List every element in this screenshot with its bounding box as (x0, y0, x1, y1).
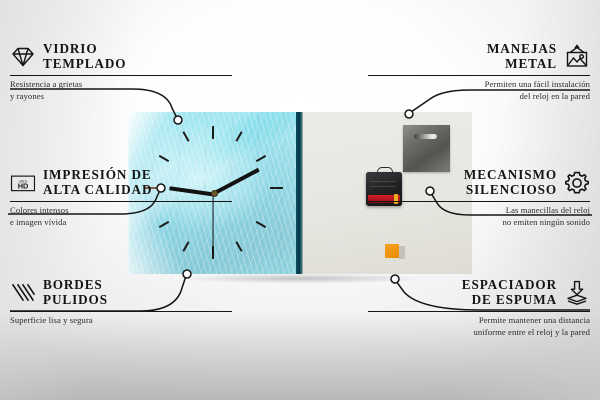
diamond-icon (10, 44, 36, 70)
feature-rule (10, 201, 232, 202)
metal-hanger-plate (403, 125, 450, 172)
polished-edges-icon (10, 280, 36, 306)
feature-mecanismo-silencioso: MECANISMO SILENCIOSO Las manecillas del … (368, 168, 590, 228)
hour-tick (212, 126, 214, 139)
feature-title: BORDES PULIDOS (43, 278, 108, 308)
feature-header: VIDRIO TEMPLADO (10, 42, 232, 72)
feature-header: ultra HD IMPRESIÓN DE ALTA CALIDAD (10, 168, 232, 198)
feature-title: IMPRESIÓN DE ALTA CALIDAD (43, 168, 152, 198)
feature-description: Permite mantener una distancia uniforme … (368, 315, 590, 338)
feature-header: ESPACIADOR DE ESPUMA (368, 278, 590, 308)
feature-description: Permiten una fácil instalación del reloj… (368, 79, 590, 102)
feature-bordes-pulidos: BORDES PULIDOS Superficie lisa y segura (10, 278, 232, 327)
feature-header: MANEJAS METAL (368, 42, 590, 72)
feature-impresion-alta-calidad: ultra HD IMPRESIÓN DE ALTA CALIDAD Color… (10, 168, 232, 228)
picture-frame-hanger-icon (564, 44, 590, 70)
feature-title: MECANISMO SILENCIOSO (464, 168, 557, 198)
foam-spacer-shadow (399, 246, 405, 259)
feature-rule (368, 201, 590, 202)
feature-manejas-metal: MANEJAS METAL Permiten una fácil instala… (368, 42, 590, 102)
feature-vidrio-templado: VIDRIO TEMPLADO Resistencia a grietas y … (10, 42, 232, 102)
arrow-onto-stack-icon (564, 280, 590, 306)
infographic-canvas: VIDRIO TEMPLADO Resistencia a grietas y … (0, 0, 600, 400)
ultra-hd-icon: ultra HD (10, 170, 36, 196)
foam-spacer (385, 244, 399, 258)
feature-title: MANEJAS METAL (487, 42, 557, 72)
feature-rule (368, 311, 590, 312)
feature-description: Colores intensos e imagen vívida (10, 205, 232, 228)
svg-text:HD: HD (18, 181, 29, 190)
feature-rule (368, 75, 590, 76)
feature-header: MECANISMO SILENCIOSO (368, 168, 590, 198)
feature-title: VIDRIO TEMPLADO (43, 42, 126, 72)
feature-description: Superficie lisa y segura (10, 315, 232, 326)
back-panel-left-edge (300, 112, 303, 274)
feature-espaciador-espuma: ESPACIADOR DE ESPUMA Permite mantener un… (368, 278, 590, 338)
feature-title: ESPACIADOR DE ESPUMA (462, 278, 557, 308)
feature-header: BORDES PULIDOS (10, 278, 232, 308)
gear-icon (564, 170, 590, 196)
feature-rule (10, 75, 232, 76)
feature-rule (10, 311, 232, 312)
hanger-slot (414, 134, 437, 139)
feature-description: Resistencia a grietas y rayones (10, 79, 232, 102)
feature-description: Las manecillas del reloj no emiten ningú… (368, 205, 590, 228)
